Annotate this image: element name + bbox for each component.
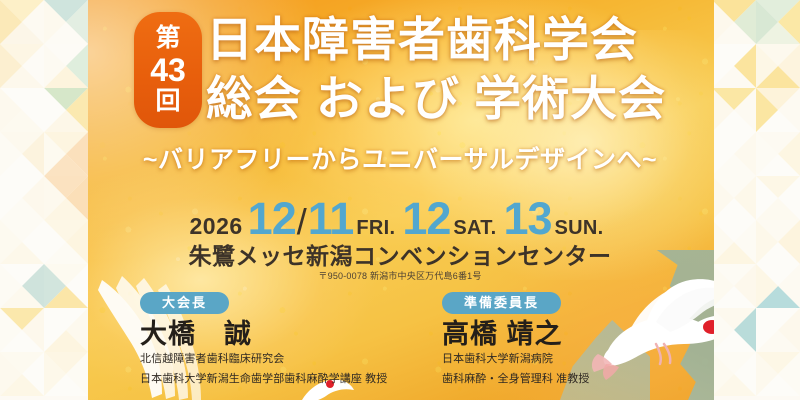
edition-badge: 第 43 回 — [134, 12, 202, 128]
chairman-name: 大橋 誠 — [140, 320, 412, 348]
committee-head-affiliation-2: 歯科麻酔・全身管理科 准教授 — [442, 372, 714, 388]
role-badge-chairman: 大会長 — [140, 292, 229, 314]
date-dow-3: SUN. — [555, 217, 604, 240]
date-year: 2026 — [190, 213, 243, 240]
committee-head-name: 高橋 靖之 — [442, 320, 714, 348]
conference-poster: 第 43 回 日本障害者歯科学会 総会 および 学術大会 ~バリアフリーからユニ… — [0, 0, 800, 400]
date-day-2: 12 — [402, 196, 450, 241]
organizer-committee-head: 準備委員長 高橋 靖之 日本歯科大学新潟病院 歯科麻酔・全身管理科 准教授 — [412, 288, 714, 400]
title-line-1: 日本障害者歯科学会 — [206, 16, 676, 63]
organizers-section: 大会長 大橋 誠 北信越障害者歯科臨床研究会 日本歯科大学新潟生命歯学部歯科麻酔… — [88, 288, 714, 400]
date-month: 12 — [248, 196, 296, 241]
chairman-affiliation-1: 北信越障害者歯科臨床研究会 — [140, 352, 412, 368]
date-dow-1: FRI. — [356, 217, 395, 240]
date-separator: / — [297, 201, 307, 243]
venue-address: 〒950-0078 新潟市中央区万代島6番1号 — [0, 269, 800, 282]
edition-prefix: 第 — [155, 26, 180, 51]
date-dow-2: SAT. — [453, 217, 496, 240]
chairman-affiliation-2: 日本歯科大学新潟生命歯学部歯科麻酔学講座 教授 — [140, 372, 412, 388]
edition-number: 43 — [150, 54, 186, 86]
date-day-3: 13 — [503, 196, 551, 241]
poster-title: 日本障害者歯科学会 総会 および 学術大会 — [206, 10, 676, 122]
date-day-1: 11 — [308, 196, 354, 241]
organizer-chairman: 大会長 大橋 誠 北信越障害者歯科臨床研究会 日本歯科大学新潟生命歯学部歯科麻酔… — [88, 288, 412, 400]
poster-subtitle: ~バリアフリーからユニバーサルデザインへ~ — [0, 148, 800, 173]
venue-name: 朱鷺メッセ新潟コンベンションセンター — [0, 244, 800, 269]
role-badge-committee-head: 準備委員長 — [442, 292, 561, 314]
committee-head-affiliation-1: 日本歯科大学新潟病院 — [442, 352, 714, 368]
event-date: 2026 12 / 11 FRI. 12 SAT. 13 SUN. — [0, 196, 800, 243]
edition-suffix: 回 — [155, 89, 180, 114]
title-line-2: 総会 および 学術大会 — [206, 75, 676, 122]
